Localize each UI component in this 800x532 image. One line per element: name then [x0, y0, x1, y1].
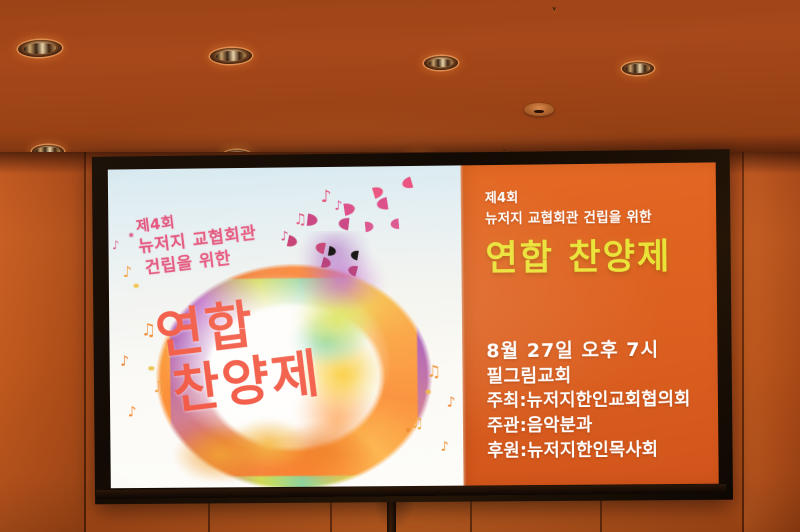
- info-panel-header: 제4회 뉴저지 교협회관 건립을 위한 연합 찬양제: [485, 187, 672, 279]
- event-sponsor: 후원:뉴저지한인목사회: [487, 438, 691, 465]
- event-datetime: 8월 27일 오후 7시: [486, 337, 690, 365]
- sprinkler-head-icon: [524, 103, 554, 116]
- poster-headline: 제4회 뉴저지 교협회관 건립을 위한: [135, 203, 260, 280]
- info-panel-details: 8월 27일 오후 7시 필그림교회 주최:뉴저지한인교회협의회 주관:음악분과…: [486, 337, 691, 465]
- confetti-dot: [148, 367, 154, 371]
- music-note-icon: ♪: [128, 405, 137, 419]
- dove-icon: [364, 218, 399, 233]
- music-note-icon: ♪: [280, 231, 288, 244]
- music-note-icon: ♪: [447, 396, 456, 410]
- event-host: 주최:뉴저지한인교회협의회: [487, 388, 691, 415]
- music-note-icon: ♪: [123, 265, 133, 280]
- ceiling-detector-icon: ▾: [552, 6, 557, 15]
- presentation-slide: ♪ ♪ ♫ ♪ ♪ ♫ ♪ ♫ ♪ ♪ ♫ ♪ ♫ ♪: [108, 162, 719, 488]
- wall-panel-seam: [470, 497, 472, 532]
- confetti-dot: [426, 390, 431, 394]
- music-note-icon: ♫: [294, 213, 308, 228]
- confetti-dot: [133, 284, 138, 288]
- ink-splash: [173, 409, 385, 481]
- music-note-icon: ♫: [427, 364, 442, 380]
- dove-icon: [286, 234, 326, 255]
- music-note-icon: ♪: [112, 240, 120, 252]
- wall-panel-seam: [84, 152, 86, 532]
- confetti-dot: [129, 233, 133, 237]
- projection-screen[interactable]: ♪ ♪ ♫ ♪ ♪ ♫ ♪ ♫ ♪ ♪ ♫ ♪ ♫ ♪: [92, 149, 733, 504]
- info-panel-title: 연합 찬양제: [485, 237, 671, 279]
- info-subtitle-line-1: 제4회: [485, 187, 671, 209]
- info-subtitle-line-2: 뉴저지 교협회관 건립을 위한: [485, 207, 671, 230]
- watercolor-dove-flock: ♪ ♪ ♫ ♪: [270, 175, 441, 305]
- dove-icon: [307, 213, 350, 232]
- confetti-dot: [406, 428, 410, 432]
- event-organizer: 주관:음악분과: [487, 413, 691, 440]
- poster-title: 연합 찬양제: [152, 290, 323, 422]
- event-venue: 필그림교회: [486, 363, 690, 390]
- music-note-icon: ♫: [410, 415, 424, 430]
- conference-hall-scene: ▾ ▾: [0, 0, 800, 532]
- music-note-icon: ♪: [120, 354, 129, 368]
- slide-info-panel: 제4회 뉴저지 교협회관 건립을 위한 연합 찬양제 8월 27일 오후 7시 …: [460, 162, 718, 485]
- dove-icon: [344, 196, 390, 216]
- screen-frame: ♪ ♪ ♫ ♪ ♪ ♫ ♪ ♫ ♪ ♪ ♫ ♪ ♫ ♪: [92, 149, 733, 504]
- poster-artwork-panel: ♪ ♪ ♫ ♪ ♪ ♫ ♪ ♫ ♪ ♪ ♫ ♪ ♫ ♪: [108, 165, 464, 488]
- music-note-icon: ♪: [441, 441, 449, 454]
- wall-panel-seam: [600, 499, 602, 532]
- music-note-icon: ♪: [334, 199, 342, 212]
- music-note-icon: ♪: [321, 189, 332, 206]
- dove-icon: [372, 175, 414, 199]
